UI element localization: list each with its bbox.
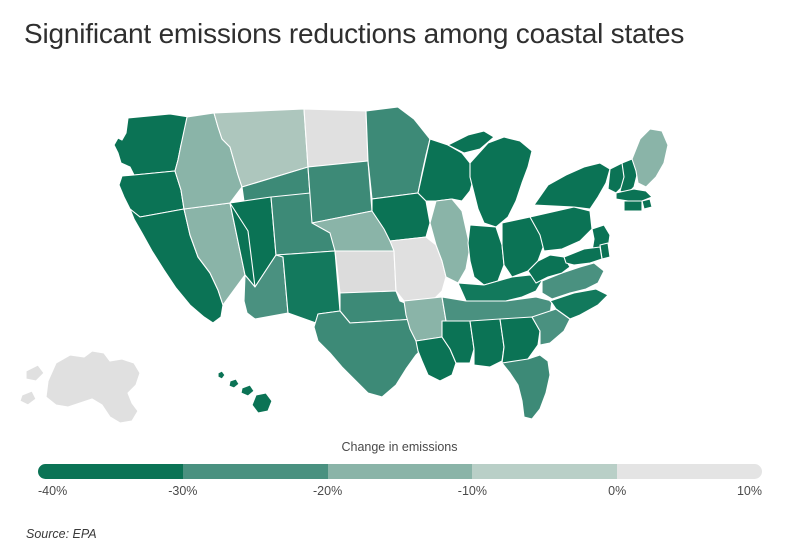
legend-tick-3: -10% xyxy=(458,484,487,498)
legend-segment-3 xyxy=(472,464,617,479)
page-title: Significant emissions reductions among c… xyxy=(24,16,764,52)
legend-tick-5: 10% xyxy=(737,484,762,498)
legend-color-bar[interactable] xyxy=(38,464,762,479)
legend-tick-0: -40% xyxy=(38,484,67,498)
legend-tick-labels: -40%-30%-20%-10%0%10% xyxy=(38,484,762,502)
state-ME[interactable] xyxy=(632,129,668,187)
map-svg xyxy=(18,105,781,430)
state-ND[interactable] xyxy=(304,109,368,167)
legend-segment-2 xyxy=(328,464,473,479)
legend-tick-4: 0% xyxy=(608,484,626,498)
choropleth-chart: Significant emissions reductions among c… xyxy=(0,0,799,558)
state-NY[interactable] xyxy=(534,163,610,209)
state-OR[interactable] xyxy=(119,171,184,217)
legend: Change in emissions -40%-30%-20%-10%0%10… xyxy=(0,440,799,510)
us-choropleth-map xyxy=(18,105,781,430)
legend-segment-0 xyxy=(38,464,183,479)
state-MD[interactable] xyxy=(564,247,602,265)
state-FL[interactable] xyxy=(502,355,550,419)
state-IN[interactable] xyxy=(468,225,504,285)
state-HI[interactable] xyxy=(218,371,225,379)
states-layer xyxy=(20,107,668,423)
legend-title: Change in emissions xyxy=(0,440,799,454)
legend-tick-1: -30% xyxy=(168,484,197,498)
legend-segment-1 xyxy=(183,464,328,479)
state-HI[interactable] xyxy=(241,385,254,396)
state-RI[interactable] xyxy=(642,199,652,209)
state-AK[interactable] xyxy=(20,351,140,423)
state-HI[interactable] xyxy=(252,393,272,413)
source-note: Source: EPA xyxy=(26,527,97,541)
state-TX[interactable] xyxy=(314,311,424,397)
state-HI[interactable] xyxy=(229,379,239,388)
state-HI-group xyxy=(218,371,272,413)
state-AL[interactable] xyxy=(470,319,504,367)
state-CT[interactable] xyxy=(624,201,642,211)
legend-segment-4 xyxy=(617,464,762,479)
state-KS[interactable] xyxy=(335,251,396,293)
legend-tick-2: -20% xyxy=(313,484,342,498)
